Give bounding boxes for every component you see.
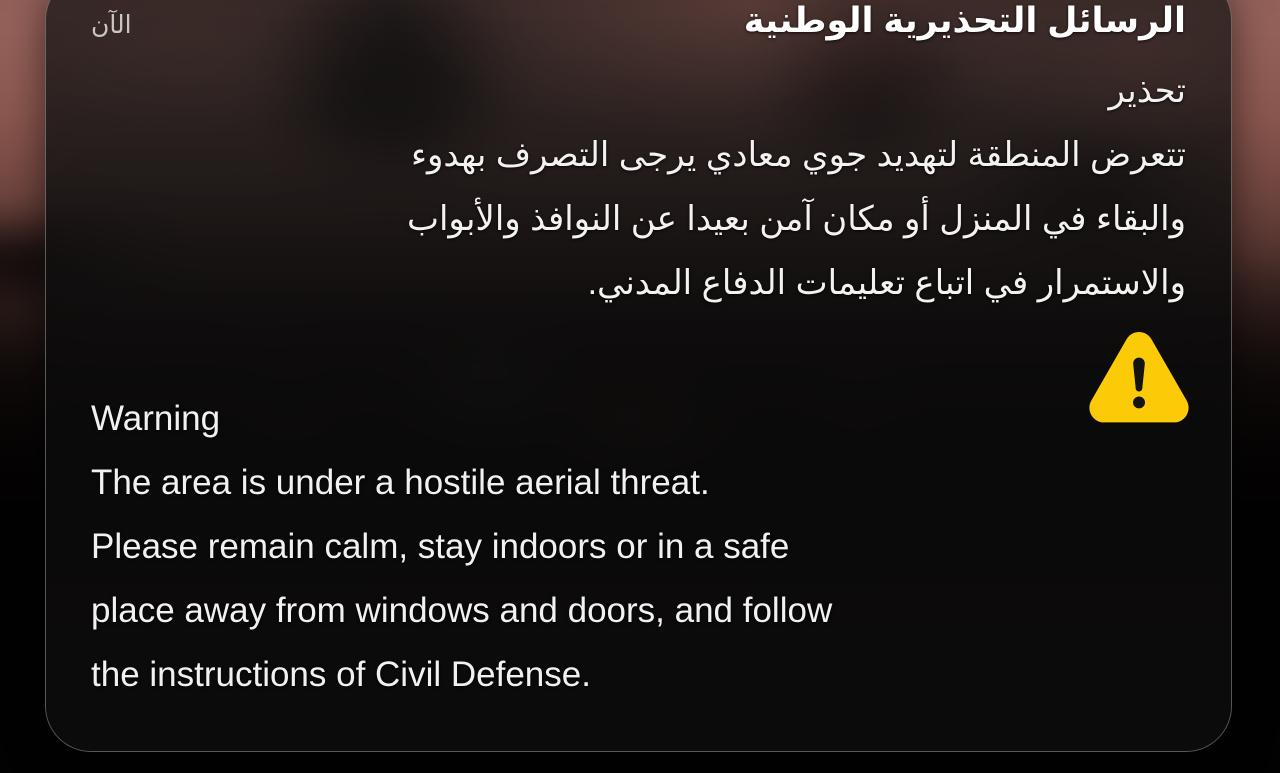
notification-timestamp: الآن (91, 10, 132, 40)
english-line-1: The area is under a hostile aerial threa… (91, 451, 1186, 515)
notification-title: الرسائل التحذيرية الوطنية (744, 1, 1186, 41)
arabic-line-1: تتعرض المنطقة لتهديد جوي معادي يرجى التص… (91, 123, 1186, 187)
english-heading: Warning (91, 387, 1186, 451)
emergency-alert-notification-card[interactable]: الآن الرسائل التحذيرية الوطنية تحذير تتع… (45, 0, 1232, 752)
english-line-2: Please remain calm, stay indoors or in a… (91, 515, 1186, 579)
notification-header: الآن الرسائل التحذيرية الوطنية (91, 1, 1186, 57)
english-line-3: place away from windows and doors, and f… (91, 579, 1186, 643)
warning-triangle-icon (1085, 325, 1193, 423)
arabic-line-3: والاستمرار في اتباع تعليمات الدفاع المدن… (91, 251, 1186, 315)
arabic-heading: تحذير (91, 59, 1186, 123)
arabic-message-body: تحذير تتعرض المنطقة لتهديد جوي معادي يرج… (91, 57, 1186, 315)
arabic-line-2: والبقاء في المنزل أو مكان آمن بعيدا عن ا… (91, 187, 1186, 251)
english-message-body: Warning The area is under a hostile aeri… (91, 387, 1186, 707)
english-line-4: the instructions of Civil Defense. (91, 643, 1186, 707)
alert-screen: الآن الرسائل التحذيرية الوطنية تحذير تتع… (0, 0, 1280, 773)
